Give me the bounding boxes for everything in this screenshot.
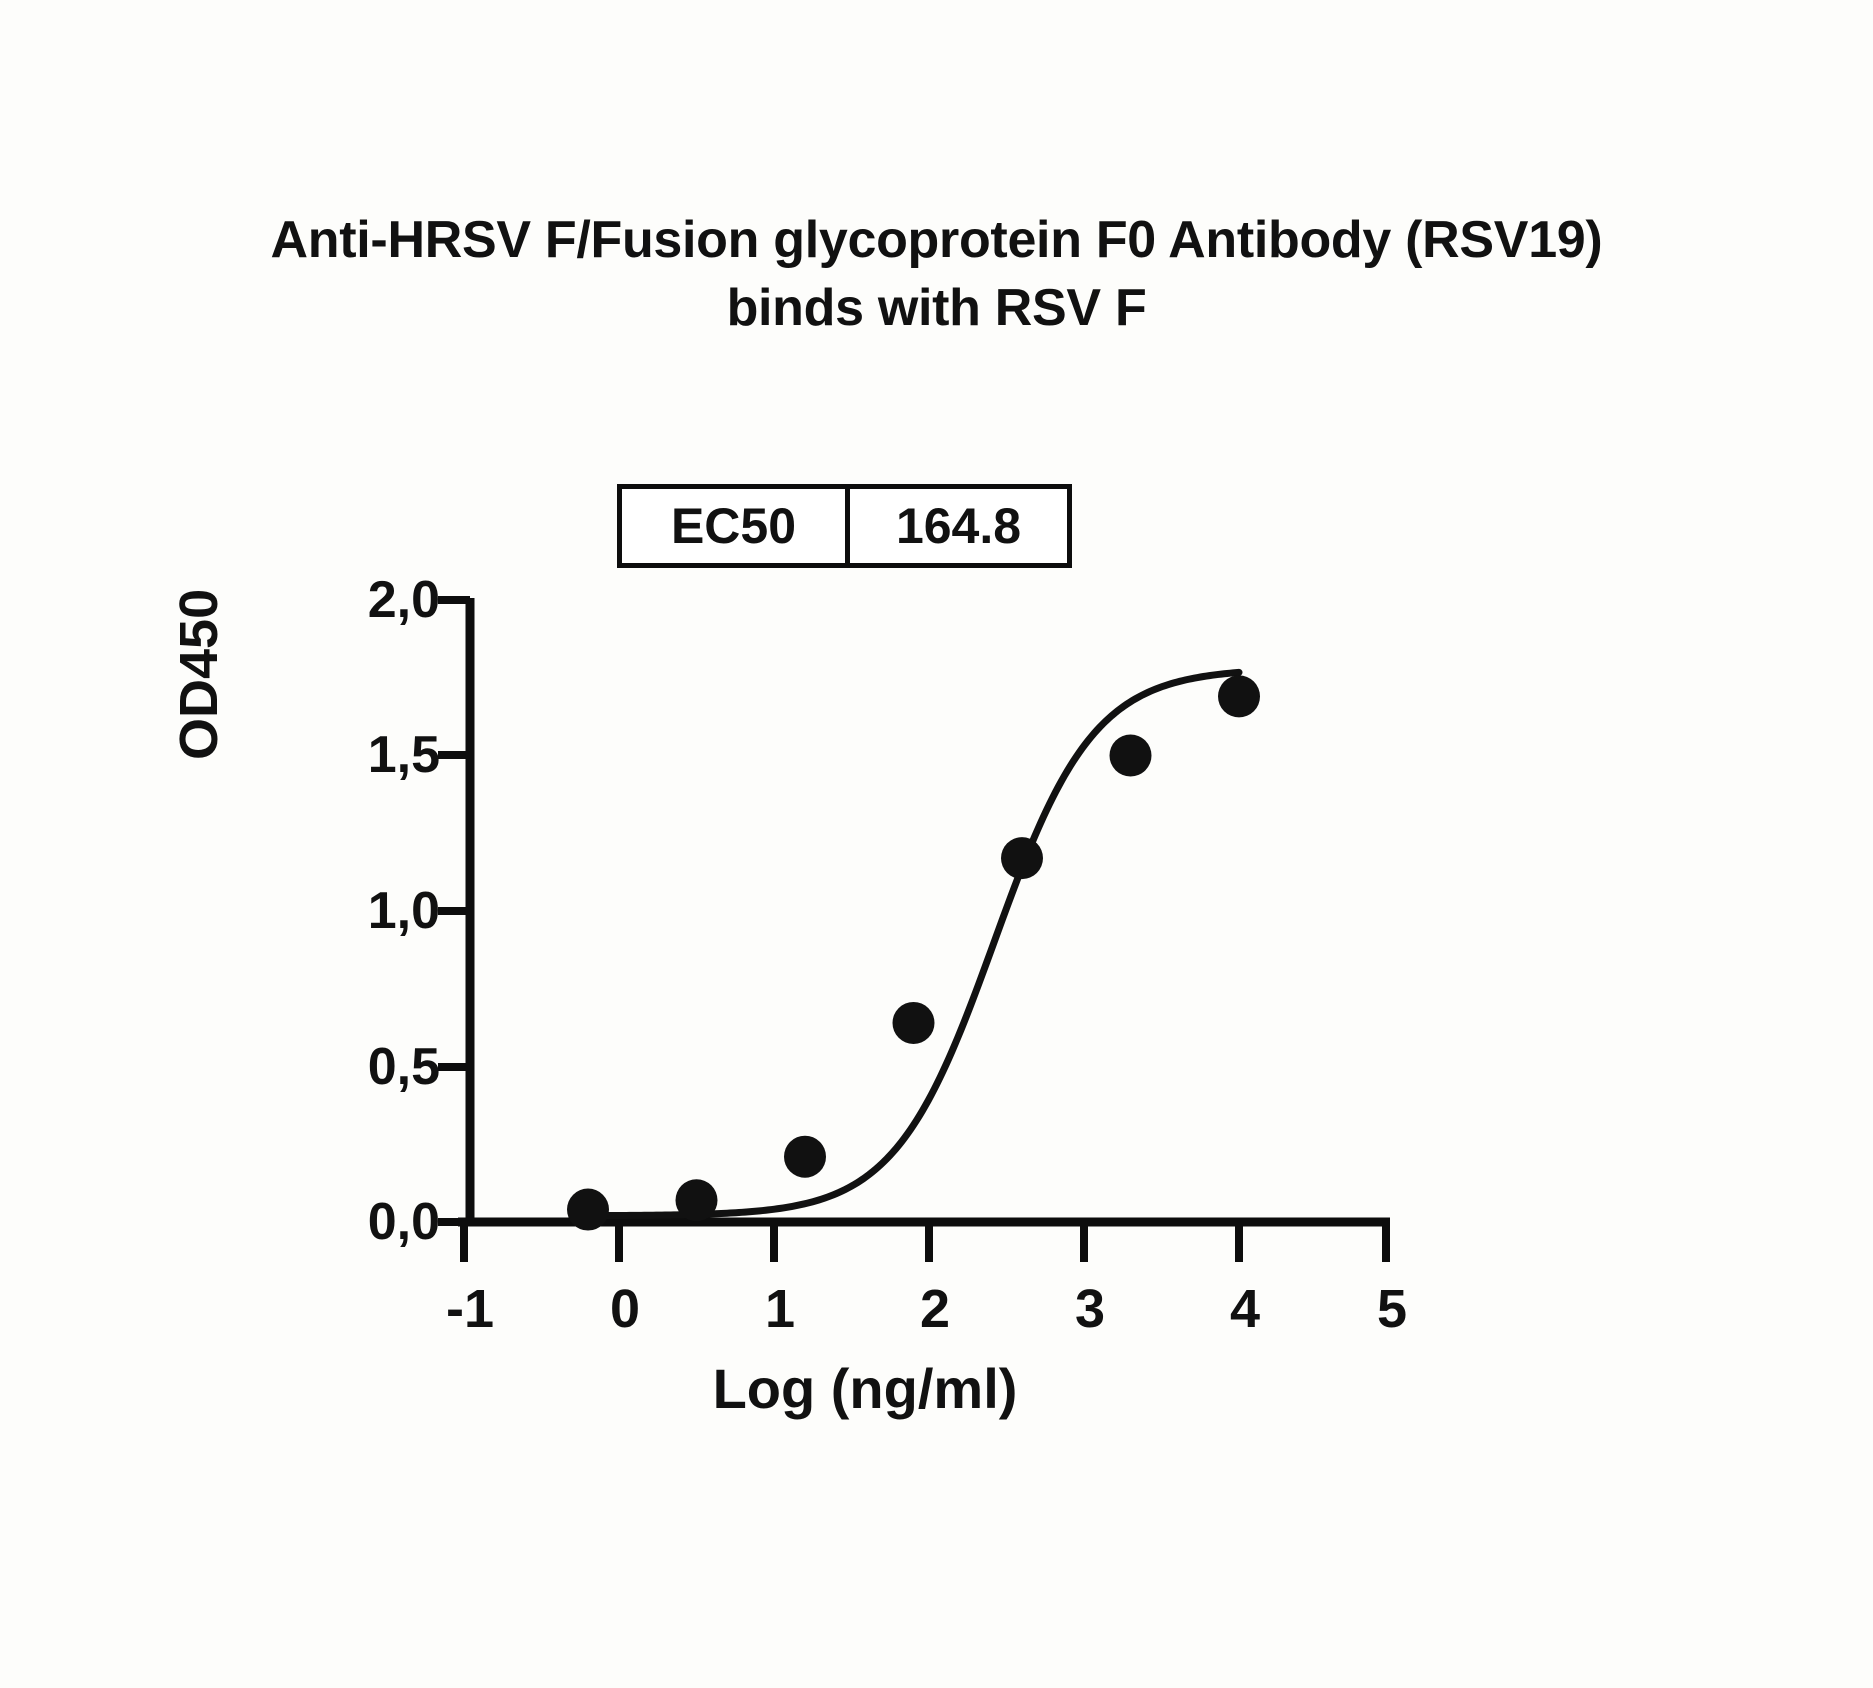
y-axis-title: OD450 — [168, 589, 230, 760]
x-tick-label-2: 2 — [890, 1282, 980, 1336]
x-tick-label-0: 0 — [580, 1282, 670, 1336]
x-tick-labels: -1 0 1 2 3 4 5 — [0, 0, 1873, 1688]
x-tick-label--1: -1 — [425, 1282, 515, 1336]
chart-page: Anti-HRSV F/Fusion glycoprotein F0 Antib… — [0, 0, 1873, 1688]
x-tick-label-3: 3 — [1045, 1282, 1135, 1336]
x-axis-title: Log (ng/ml) — [470, 1356, 1260, 1421]
x-tick-label-5: 5 — [1347, 1282, 1437, 1336]
x-tick-label-1: 1 — [735, 1282, 825, 1336]
x-tick-label-4: 4 — [1200, 1282, 1290, 1336]
